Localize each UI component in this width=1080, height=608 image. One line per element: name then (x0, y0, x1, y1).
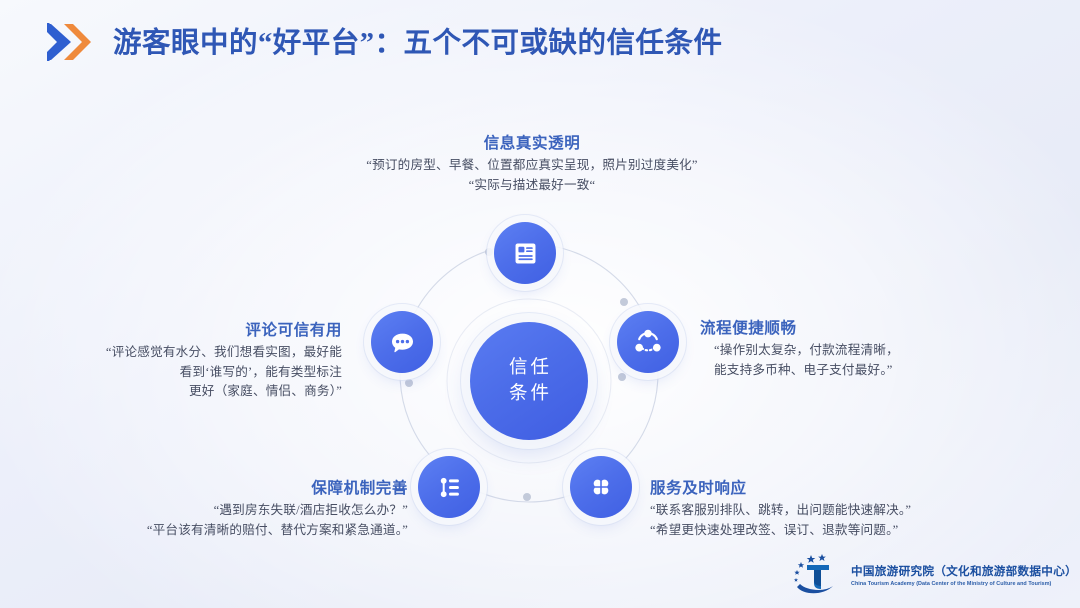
document-article-icon (511, 239, 540, 268)
caption-title: 服务及时响应 (650, 476, 990, 498)
caption-line: 看到‘谁写的’，能有类型标注 (72, 363, 342, 383)
footer-text-block: 中国旅游研究院（文化和旅游部数据中心） China Tourism Academ… (851, 563, 1077, 587)
trust-conditions-diagram: 信任 条件 (0, 86, 1080, 556)
caption-line: “希望更快速处理改签、误订、退款等问题。” (650, 521, 990, 541)
diagram-hub: 信任 条件 (470, 322, 588, 440)
caption-title: 保障机制完善 (78, 476, 408, 498)
hub-line-2: 条件 (506, 381, 552, 407)
slide-canvas: 游客眼中的“好平台”：五个不可或缺的信任条件 信任 条件 (0, 0, 1080, 608)
double-chevron-icon (47, 22, 103, 62)
organization-name-en: China Tourism Academy (Data Center of th… (851, 581, 1077, 587)
caption-line: “遇到房东失联/酒店拒收怎么办？” (78, 501, 408, 521)
task-list-icon (435, 473, 464, 502)
caption-line: “预订的房型、早餐、位置都应真实呈现，照片别过度美化” (332, 156, 732, 176)
four-petal-grid-icon (587, 473, 615, 501)
node-credible-reviews[interactable] (371, 311, 433, 373)
caption-line: 更好（家庭、情侣、商务）” (72, 382, 342, 402)
connector-dot (620, 298, 628, 306)
node-smooth-process[interactable] (617, 311, 679, 373)
caption-line: 能支持多币种、电子支付最好。” (700, 361, 980, 381)
organization-name-cn: 中国旅游研究院（文化和旅游部数据中心） (851, 563, 1077, 579)
connector-dot (618, 373, 626, 381)
connector-dot (485, 248, 493, 256)
caption-line: “实际与描述最好一致“ (332, 176, 732, 196)
share-network-icon (633, 327, 663, 357)
caption-smooth-process: 流程便捷顺畅 “操作别太复杂，付款流程清晰， 能支持多币种、电子支付最好。” (700, 316, 980, 380)
page-title: 游客眼中的“好平台”：五个不可或缺的信任条件 (113, 20, 723, 61)
caption-title: 流程便捷顺畅 (700, 316, 980, 338)
china-tourism-academy-logo (789, 553, 845, 597)
footer-organization-logo: 中国旅游研究院（文化和旅游部数据中心） China Tourism Academ… (789, 551, 1049, 599)
caption-line: “评论感觉有水分、我们想看实图，最好能 (72, 343, 342, 363)
caption-information-transparency: 信息真实透明 “预订的房型、早餐、位置都应真实呈现，照片别过度美化” “实际与描… (332, 131, 732, 195)
slide-header: 游客眼中的“好平台”：五个不可或缺的信任条件 (0, 0, 1080, 86)
caption-line: “联系客服别排队、跳转，出问题能快速解决。” (650, 501, 990, 521)
hub-line-1: 信任 (506, 355, 552, 381)
caption-line: “平台该有清晰的赔付、替代方案和紧急通道。” (78, 521, 408, 541)
chat-bubble-icon (388, 328, 417, 357)
node-timely-service[interactable] (570, 456, 632, 518)
node-information-transparency[interactable] (494, 222, 556, 284)
caption-timely-service: 服务及时响应 “联系客服别排队、跳转，出问题能快速解决。” “希望更快速处理改签… (650, 476, 990, 540)
caption-credible-reviews: 评论可信有用 “评论感觉有水分、我们想看实图，最好能 看到‘谁写的’，能有类型标… (72, 318, 342, 402)
connector-dot (405, 379, 413, 387)
caption-title: 信息真实透明 (332, 131, 732, 153)
caption-title: 评论可信有用 (72, 318, 342, 340)
caption-line: “操作别太复杂，付款流程清晰， (700, 341, 980, 361)
node-guarantee-mechanism[interactable] (418, 456, 480, 518)
connector-dot (523, 493, 531, 501)
caption-guarantee-mechanism: 保障机制完善 “遇到房东失联/酒店拒收怎么办？” “平台该有清晰的赔付、替代方案… (78, 476, 408, 540)
